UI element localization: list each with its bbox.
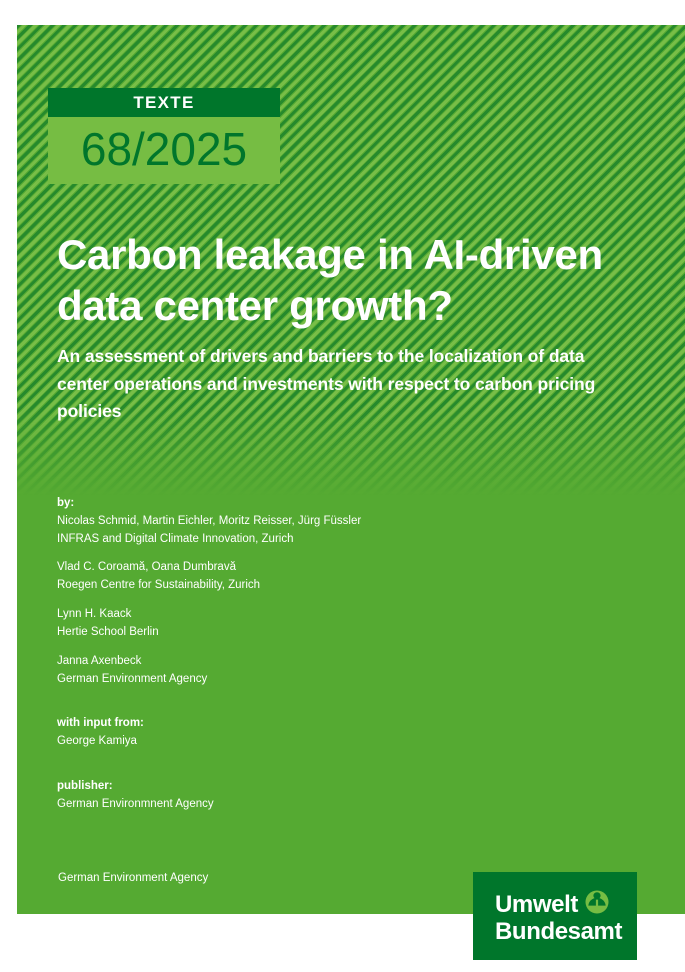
credit-heading: by:	[57, 495, 477, 513]
credit-line: Nicolas Schmid, Martin Eichler, Moritz R…	[57, 513, 477, 531]
logo-row-top: Umwelt	[495, 890, 622, 919]
credit-spacer	[57, 762, 477, 778]
footer-agency-name: German Environment Agency	[58, 870, 208, 886]
cover-panel: TEXTE 68/2025 Carbon leakage in AI-drive…	[17, 25, 685, 914]
credit-line: German Environmnent Agency	[57, 796, 477, 814]
credit-line: Hertie School Berlin	[57, 624, 477, 642]
credit-group: Janna AxenbeckGerman Environment Agency	[57, 653, 477, 689]
logo-word-umwelt: Umwelt	[495, 892, 578, 917]
credit-group: with input from:George Kamiya	[57, 699, 477, 751]
credit-heading: publisher:	[57, 778, 477, 796]
credit-line: German Environment Agency	[57, 671, 477, 689]
logo-inner: Umwelt Bundesamt	[495, 890, 622, 944]
credits-block: by:Nicolas Schmid, Martin Eichler, Morit…	[57, 495, 477, 814]
credit-line: Roegen Centre for Sustainability, Zurich	[57, 577, 477, 595]
umweltbundesamt-tree-mark	[585, 890, 609, 919]
series-label: TEXTE	[48, 88, 280, 117]
page-subtitle: An assessment of drivers and barriers to…	[57, 343, 617, 424]
issue-badge: TEXTE 68/2025	[48, 88, 280, 184]
credit-spacer	[57, 699, 477, 715]
credit-line: Vlad C. Coroamă, Oana Dumbravă	[57, 559, 477, 577]
umweltbundesamt-logo: Umwelt Bundesamt	[473, 872, 637, 960]
issue-number: 68/2025	[48, 117, 280, 184]
credit-heading: with input from:	[57, 715, 477, 733]
title-block: Carbon leakage in AI-driven data center …	[57, 229, 617, 425]
logo-word-bundesamt: Bundesamt	[495, 919, 622, 944]
page-title: Carbon leakage in AI-driven data center …	[57, 229, 617, 331]
credit-line: George Kamiya	[57, 733, 477, 751]
credit-group: Lynn H. KaackHertie School Berlin	[57, 606, 477, 642]
credit-line: Lynn H. Kaack	[57, 606, 477, 624]
credit-group: Vlad C. Coroamă, Oana DumbravăRoegen Cen…	[57, 559, 477, 595]
credit-line: INFRAS and Digital Climate Innovation, Z…	[57, 531, 477, 549]
credit-group: by:Nicolas Schmid, Martin Eichler, Morit…	[57, 495, 477, 548]
credit-line: Janna Axenbeck	[57, 653, 477, 671]
credit-group: publisher:German Environmnent Agency	[57, 762, 477, 814]
